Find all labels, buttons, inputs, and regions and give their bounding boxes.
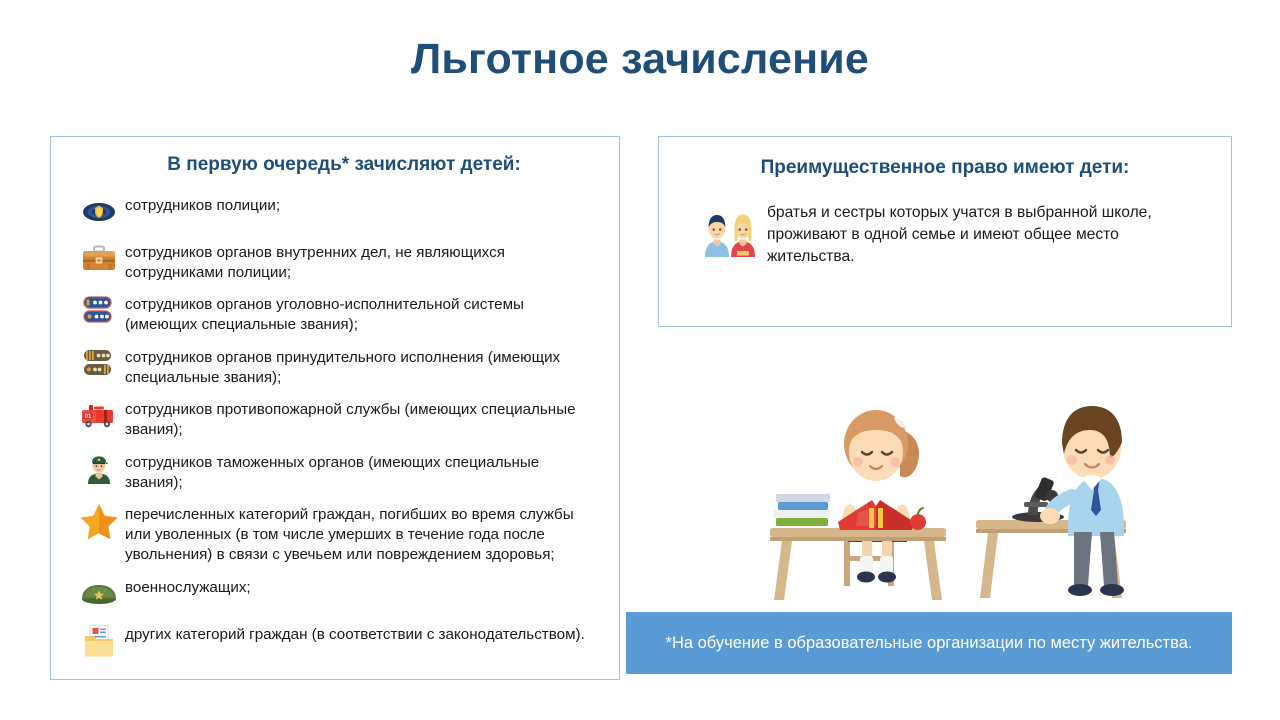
children-studying-illustration [752,360,1138,606]
list-item: сотрудников таможенных органов (имеющих … [51,450,619,493]
list-item: сотрудников органов уголовно-исполнитель… [51,292,619,335]
list-item-label: военнослужащих; [125,575,251,598]
blue-epaulettes-icon [73,292,125,330]
first-priority-heading: В первую очередь* зачисляют детей: [51,154,619,177]
list-item-label: сотрудников органов уголовно-исполнитель… [125,292,595,335]
siblings-icon [693,202,767,258]
list-item: 01 сотрудников противопожарной службы (и… [51,397,619,440]
list-item: братья и сестры которых учатся в выбранн… [659,180,1231,268]
police-cockade-icon [73,193,125,231]
list-item-label: сотрудников полиции; [125,193,280,216]
preferential-right-panel: Преимущественное право имеют дети: [658,136,1232,327]
orange-star-icon [73,502,125,540]
gold-epaulettes-icon [73,345,125,383]
list-item-label: перечисленных категорий граждан, погибши… [125,502,595,566]
list-item: сотрудников полиции; [51,193,619,231]
briefcase-icon [73,240,125,278]
list-item: сотрудников органов принудительного испо… [51,345,619,388]
fire-truck-icon: 01 [73,397,125,435]
first-priority-list: сотрудников полиции; сотрудников органов… [51,177,619,660]
list-item: других категорий граждан (в соответствии… [51,622,619,660]
list-item: перечисленных категорий граждан, погибши… [51,502,619,566]
preferential-right-heading: Преимущественное право имеют дети: [659,157,1231,180]
document-folder-icon [73,622,125,660]
list-item: военнослужащих; [51,575,619,613]
list-item-label: других категорий граждан (в соответствии… [125,622,585,645]
list-item: сотрудников органов внутренних дел, не я… [51,240,619,283]
list-item-label: сотрудников противопожарной службы (имею… [125,397,595,440]
svg-text:01: 01 [85,414,92,420]
list-item-label: сотрудников органов принудительного испо… [125,345,595,388]
first-priority-panel: В первую очередь* зачисляют детей: сотру… [50,136,620,680]
list-item-label: сотрудников органов внутренних дел, не я… [125,240,595,283]
list-item-label: братья и сестры которых учатся в выбранн… [767,202,1167,268]
footnote-banner: *На обучение в образовательные организац… [626,612,1232,674]
footnote-text: *На обучение в образовательные организац… [666,632,1193,654]
page-title: Льготное зачисление [0,36,1280,83]
customs-officer-icon [73,450,125,488]
list-item-label: сотрудников таможенных органов (имеющих … [125,450,595,493]
military-cap-icon [73,575,125,613]
